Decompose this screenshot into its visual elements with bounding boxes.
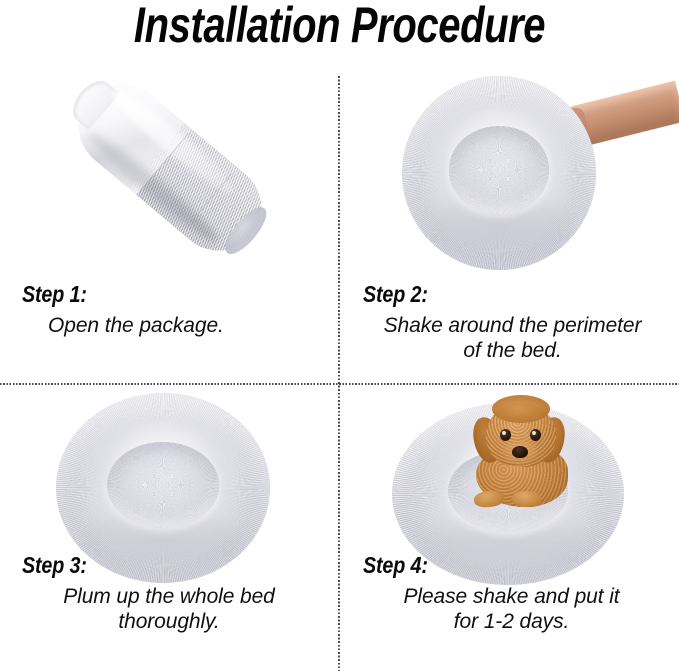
vacuum-packed-bed-roll-photo [0, 60, 338, 290]
step-4-caption: Step 4: Please shake and put it for 1-2 … [340, 553, 679, 634]
bed-inner-cushion [107, 442, 218, 528]
installation-procedure-infographic: Installation Procedure Step 1: Open the [0, 0, 679, 671]
step-4-panel: Step 4: Please shake and put it for 1-2 … [340, 385, 679, 671]
dog-eye-highlight [502, 431, 506, 435]
hand-shaking-donut-bed-photo [340, 60, 679, 290]
bed-inner-cushion [449, 126, 550, 213]
page-title: Installation Procedure [68, 0, 611, 52]
step-3-label: Step 3: [22, 553, 294, 578]
dog-nose [512, 446, 528, 458]
package-roll-graphic [52, 76, 282, 281]
dog-eye-highlight [532, 431, 536, 435]
step-3-caption: Step 3: Plum up the whole bed thoroughly… [0, 553, 338, 634]
step-4-label: Step 4: [363, 553, 635, 578]
step-2-caption: Step 2: Shake around the perimeter of th… [340, 282, 679, 363]
poodle-puppy-graphic [458, 401, 578, 517]
dog-eye-right [530, 429, 541, 441]
dog-topknot [492, 395, 550, 423]
step-2-text: Shake around the perimeter of the bed. [352, 313, 673, 363]
step-1-label: Step 1: [22, 282, 294, 307]
fluffed-donut-bed-photo [0, 385, 338, 561]
step-1-panel: Step 1: Open the package. [0, 60, 338, 383]
package-roll-cylinder [61, 66, 279, 268]
bed-inner-fur-texture [449, 126, 550, 213]
step-2-panel: Step 2: Shake around the perimeter of th… [340, 60, 679, 383]
dog-eye-left [500, 429, 511, 441]
bed-inner-fur-texture [107, 442, 218, 528]
step-3-text: Plum up the whole bed thoroughly. [10, 584, 328, 634]
step-3-panel: Step 3: Plum up the whole bed thoroughly… [0, 385, 338, 671]
step-1-text: Open the package. [48, 313, 338, 338]
donut-dog-bed-graphic [402, 76, 596, 270]
poodle-puppy-in-donut-bed-photo [340, 385, 679, 561]
step-1-caption: Step 1: Open the package. [0, 282, 338, 338]
step-4-text: Please shake and put it for 1-2 days. [354, 584, 669, 634]
step-2-label: Step 2: [363, 282, 635, 307]
dog-front-paw-left [473, 489, 505, 508]
